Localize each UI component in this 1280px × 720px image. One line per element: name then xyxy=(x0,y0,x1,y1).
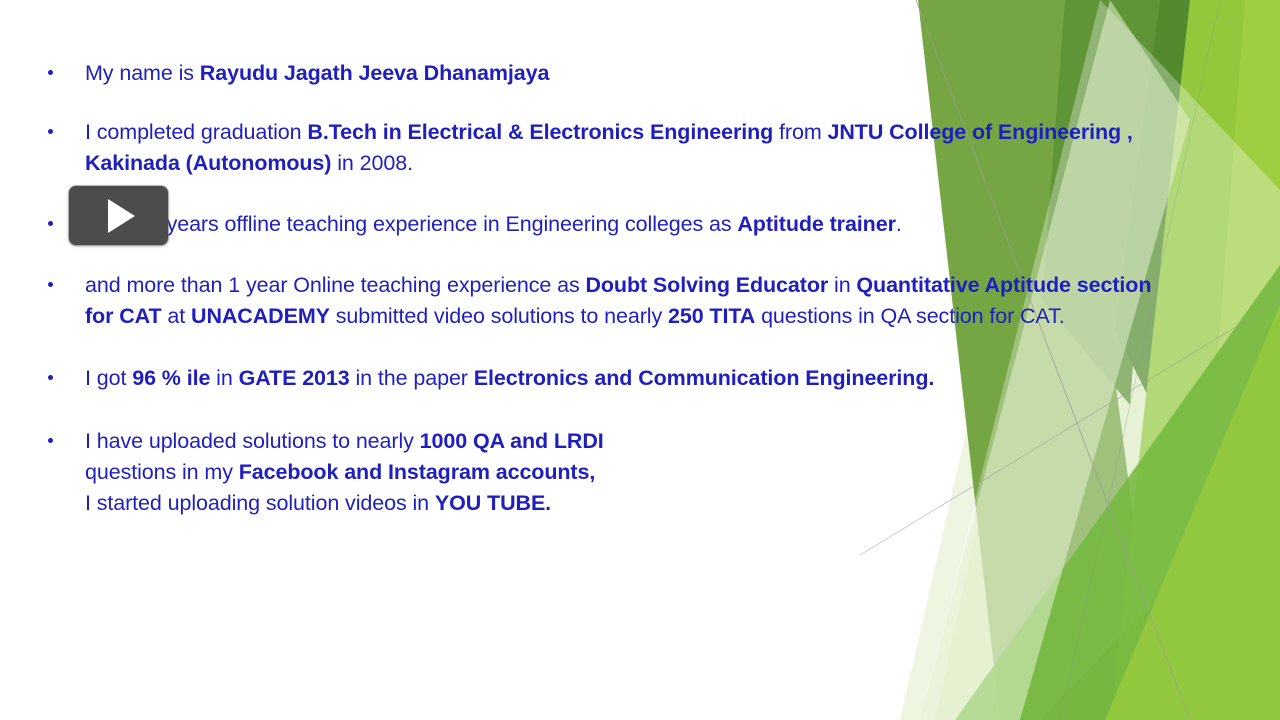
bullet-text: I have 5 years offline teaching experien… xyxy=(85,212,902,236)
text-run: I started uploading solution videos in xyxy=(85,491,435,515)
text-run: in the paper xyxy=(350,366,474,390)
presentation-slide: My name is Rayudu Jagath Jeeva Dhanamjay… xyxy=(0,0,1280,720)
bold-run: GATE 2013 xyxy=(239,366,350,390)
text-run: at xyxy=(162,304,191,328)
bold-run: 96 % ile xyxy=(132,366,210,390)
bold-run: Doubt Solving Educator xyxy=(585,273,828,297)
decor-shape-bright-2 xyxy=(1190,0,1280,720)
bullet-item-online-experience: and more than 1 year Online teaching exp… xyxy=(44,270,1154,332)
text-run: and more than 1 year Online teaching exp… xyxy=(85,273,585,297)
bold-run: YOU TUBE. xyxy=(435,491,551,515)
text-run: I have 5 years offline teaching experien… xyxy=(85,212,737,236)
bullet-text: I have uploaded solutions to nearly 1000… xyxy=(85,429,604,515)
bold-run: Facebook and Instagram accounts, xyxy=(239,460,595,484)
bullet-text: My name is Rayudu Jagath Jeeva Dhanamjay… xyxy=(85,61,549,85)
bullet-dot-icon xyxy=(48,129,53,134)
text-run: in xyxy=(828,273,856,297)
bold-run: Rayudu Jagath Jeeva Dhanamjaya xyxy=(200,61,550,85)
text-run: submitted video solutions to nearly xyxy=(330,304,668,328)
text-run: . xyxy=(896,212,902,236)
bullet-item-name: My name is Rayudu Jagath Jeeva Dhanamjay… xyxy=(44,58,1154,89)
text-run: My name is xyxy=(85,61,200,85)
text-run: I have uploaded solutions to nearly xyxy=(85,429,420,453)
text-run: questions in QA section for CAT. xyxy=(755,304,1064,328)
bullet-dot-icon xyxy=(48,282,53,287)
bold-run: 1000 QA and LRDI xyxy=(420,429,604,453)
bold-run: Electronics and Communication Engineerin… xyxy=(474,366,935,390)
bold-run: B.Tech in Electrical & Electronics Engin… xyxy=(307,120,773,144)
text-run: I got xyxy=(85,366,132,390)
bullet-dot-icon xyxy=(48,70,53,75)
text-run: I completed graduation xyxy=(85,120,307,144)
bullet-item-graduation: I completed graduation B.Tech in Electri… xyxy=(44,117,1154,179)
text-run: in xyxy=(210,366,238,390)
bold-run: UNACADEMY xyxy=(191,304,330,328)
bullet-text: I completed graduation B.Tech in Electri… xyxy=(85,120,1133,175)
bullet-item-gate-score: I got 96 % ile in GATE 2013 in the paper… xyxy=(44,363,1154,394)
bullet-dot-icon xyxy=(48,375,53,380)
text-run: questions in my xyxy=(85,460,239,484)
bullet-text: I got 96 % ile in GATE 2013 in the paper… xyxy=(85,366,934,390)
text-run: in 2008. xyxy=(331,151,413,175)
bullet-dot-icon xyxy=(48,221,53,226)
bullet-dot-icon xyxy=(48,438,53,443)
bold-run: 250 TITA xyxy=(668,304,755,328)
bullet-text: and more than 1 year Online teaching exp… xyxy=(85,273,1151,328)
video-play-button[interactable] xyxy=(69,186,168,245)
bullet-item-uploads: I have uploaded solutions to nearly 1000… xyxy=(44,426,1154,519)
bold-run: Aptitude trainer xyxy=(737,212,895,236)
play-triangle-icon xyxy=(108,199,135,233)
text-run: from xyxy=(773,120,827,144)
bullet-item-offline-experience: I have 5 years offline teaching experien… xyxy=(44,209,1154,240)
bullet-list: My name is Rayudu Jagath Jeeva Dhanamjay… xyxy=(44,58,1154,519)
